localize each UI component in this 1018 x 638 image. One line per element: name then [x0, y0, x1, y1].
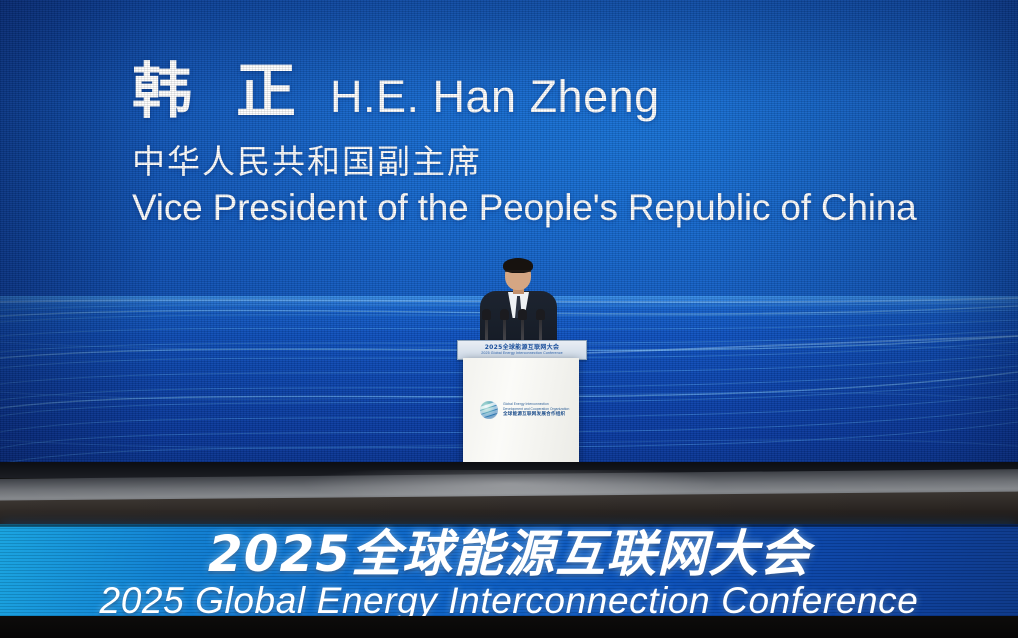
podium-sign-english: 2025 Global Energy Interconnection Confe…	[481, 351, 562, 356]
microphone-head	[500, 309, 509, 320]
microphone-head	[536, 309, 545, 320]
foreground-dark-strip	[0, 616, 1018, 638]
podium-sign-chinese: 2025全球能源互联网大会	[485, 344, 560, 351]
banner-title-english: 2025 Global Energy Interconnection Confe…	[100, 581, 919, 616]
organization-name-cn: 全球能源互联网发展合作组织	[503, 412, 569, 418]
organization-name-en-line1: Global Energy Interconnection	[503, 402, 569, 406]
conference-stage-photo: 韩正 H.E. Han Zheng 中华人民共和国副主席 Vice Presid…	[0, 0, 1018, 638]
speaker-title-block: 韩正 H.E. Han Zheng 中华人民共和国副主席 Vice Presid…	[132, 62, 917, 228]
glasses-icon	[505, 270, 531, 277]
globe-icon	[480, 401, 498, 419]
organization-name-en-line2: Development and Cooperation Organization	[503, 407, 569, 411]
organization-logo: Global Energy Interconnection Developmen…	[480, 401, 569, 419]
conference-banner: 2025全球能源互联网大会 2025 Global Energy Interco…	[0, 524, 1018, 616]
speaker-role-chinese: 中华人民共和国副主席	[132, 144, 917, 181]
banner-title-chinese: 2025全球能源互联网大会	[208, 527, 810, 581]
organization-logo-text: Global Energy Interconnection Developmen…	[503, 402, 569, 418]
microphone-head	[482, 309, 491, 320]
speaker-name-row: 韩正 H.E. Han Zheng	[132, 62, 917, 122]
microphone-head	[518, 309, 527, 320]
speaker-role-english: Vice President of the People's Republic …	[132, 187, 917, 228]
speaker-name-english: H.E. Han Zheng	[330, 74, 660, 119]
podium-name-plate: 2025全球能源互联网大会 2025 Global Energy Interco…	[457, 340, 587, 360]
podium-front-panel: Global Energy Interconnection Developmen…	[463, 358, 579, 474]
speaker-name-chinese: 韩正	[132, 62, 340, 122]
banner-text-group: 2025全球能源互联网大会 2025 Global Energy Interco…	[0, 524, 1018, 616]
